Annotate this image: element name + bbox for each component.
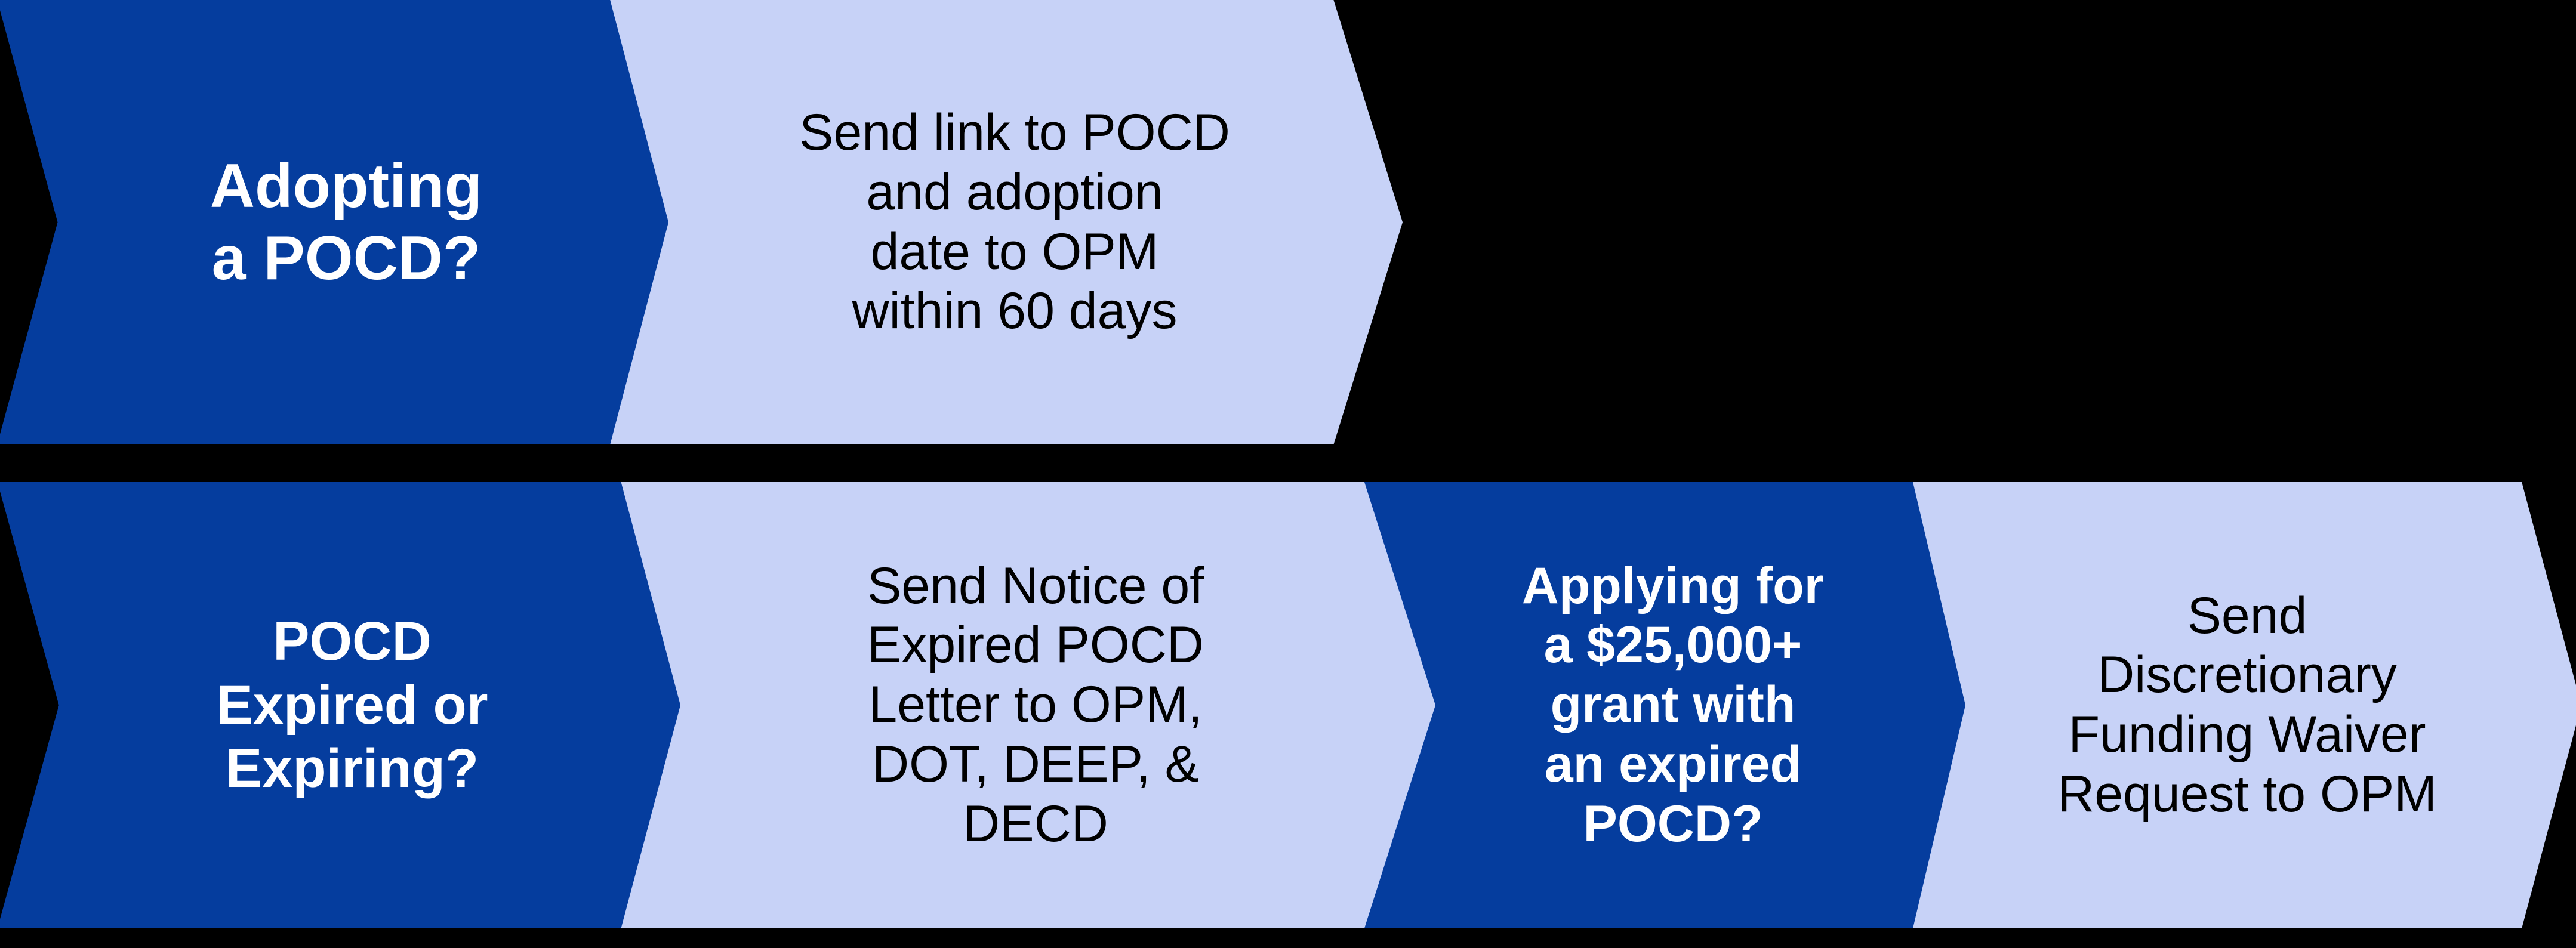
chevron-step-expired-question[interactable]: POCD Expired or Expiring? [0,482,680,928]
chevron-step-adopting-action[interactable]: Send link to POCD and adoption date to O… [591,0,1403,444]
flow-row-expired: POCD Expired or Expiring? Send Notice of… [0,482,2576,928]
process-flow-diagram: Adopting a POCD? Send link to POCD and a… [0,0,2576,948]
chevron-step-adopting-question[interactable]: Adopting a POCD? [0,0,668,444]
chevron-shape-dark [0,482,680,928]
chevron-shape-dark [1348,482,1965,928]
chevron-step-grant-question[interactable]: Applying for a $25,000+ grant with an ex… [1348,482,1965,928]
chevron-shape-light [1880,482,2576,928]
chevron-shape-dark [0,0,668,444]
chevron-shape-light [591,0,1403,444]
chevron-step-expired-action[interactable]: Send Notice of Expired POCD Letter to OP… [600,482,1435,928]
flow-row-adopting: Adopting a POCD? Send link to POCD and a… [0,0,2576,444]
chevron-shape-light [600,482,1435,928]
chevron-step-grant-action[interactable]: Send Discretionary Funding Waiver Reques… [1880,482,2576,928]
